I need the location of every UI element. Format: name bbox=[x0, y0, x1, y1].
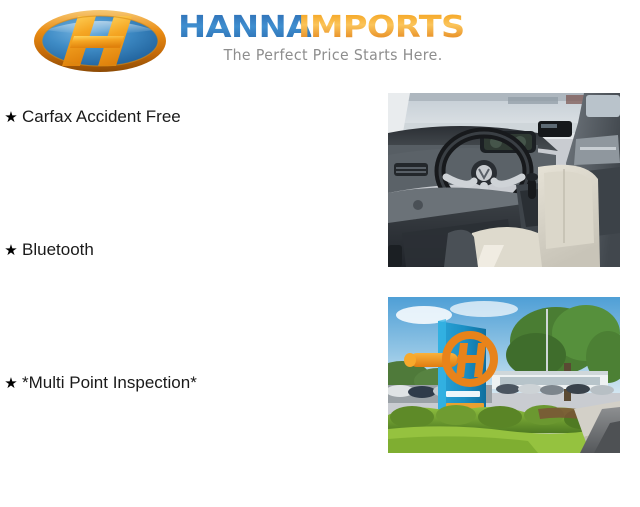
wordmark-imports: IMPORTS bbox=[298, 12, 465, 44]
dealership-sign-photo[interactable] bbox=[388, 297, 620, 453]
feature-label: Carfax Accident Free bbox=[22, 108, 181, 125]
dealer-logo-lockup[interactable]: HANNAIMPORTS The Perfect Price Starts He… bbox=[32, 8, 528, 74]
vehicle-feature-list: ★ Carfax Accident Free ★ Bluetooth ★ *Mu… bbox=[0, 108, 380, 507]
list-item: ★ Bluetooth bbox=[0, 241, 380, 374]
wordmark-row: HANNAIMPORTS bbox=[178, 12, 528, 44]
hanna-oval-h-logo-icon bbox=[32, 8, 168, 74]
star-bullet-icon: ★ bbox=[0, 376, 22, 391]
list-item: ★ Carfax Accident Free bbox=[0, 108, 380, 241]
vehicle-interior-photo[interactable] bbox=[388, 93, 620, 267]
wordmark-hanna: HANNA bbox=[178, 12, 312, 44]
dealer-header: HANNAIMPORTS The Perfect Price Starts He… bbox=[0, 0, 640, 88]
dealer-tagline: The Perfect Price Starts Here. bbox=[178, 46, 488, 64]
star-bullet-icon: ★ bbox=[0, 243, 22, 258]
dealer-wordmark: HANNAIMPORTS The Perfect Price Starts He… bbox=[178, 12, 528, 64]
feature-label: Bluetooth bbox=[22, 241, 94, 258]
list-item: ★ *Multi Point Inspection* bbox=[0, 374, 380, 507]
feature-label: *Multi Point Inspection* bbox=[22, 374, 197, 391]
star-bullet-icon: ★ bbox=[0, 110, 22, 125]
